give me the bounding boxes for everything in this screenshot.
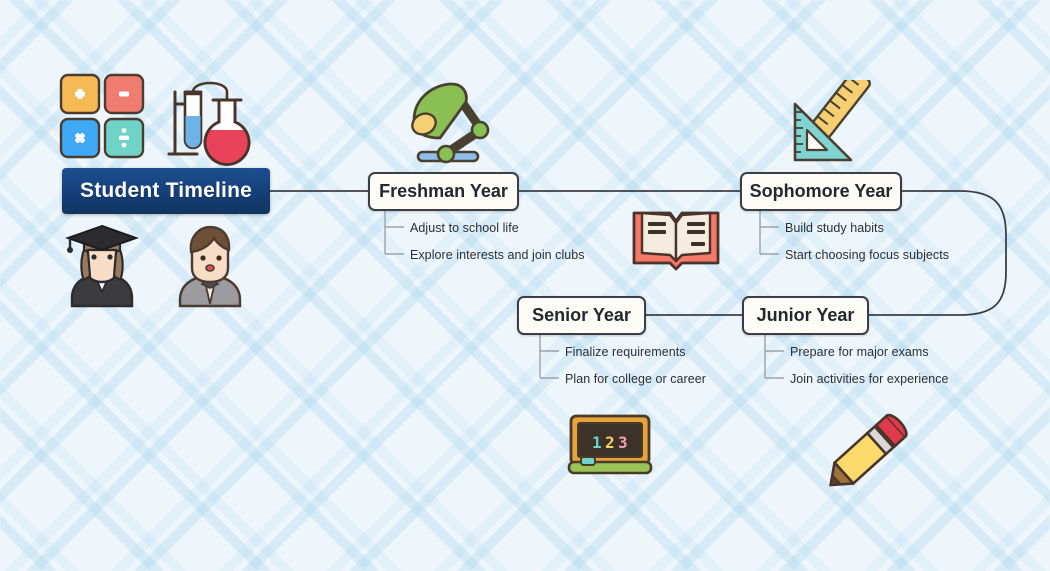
math-operators-icon — [58, 72, 146, 160]
root-node-student-timeline[interactable]: Student Timeline — [62, 168, 270, 214]
leaf-sophomore-1[interactable]: Build study habits — [785, 221, 884, 235]
leaf-sophomore-2[interactable]: Start choosing focus subjects — [785, 248, 949, 262]
branch-node-label: Senior Year — [532, 305, 631, 326]
leaf-senior-2[interactable]: Plan for college or career — [565, 372, 706, 386]
mindmap-canvas: 1 2 3 Student Timeline Freshman Year Adj… — [0, 0, 1050, 571]
blackboard-number-1: 1 — [592, 433, 602, 452]
desk-lamp-icon — [400, 80, 498, 166]
graduate-female-avatar-icon — [62, 224, 142, 308]
blackboard-numbers-icon: 1 2 3 — [566, 412, 654, 478]
branch-node-senior-year[interactable]: Senior Year — [517, 296, 646, 335]
branch-node-label: Freshman Year — [379, 181, 508, 202]
student-male-avatar-icon — [172, 224, 248, 308]
branch-node-sophomore-year[interactable]: Sophomore Year — [740, 172, 902, 211]
leaf-freshman-1[interactable]: Adjust to school life — [410, 221, 519, 235]
branch-node-label: Junior Year — [757, 305, 855, 326]
leaf-junior-2[interactable]: Join activities for experience — [790, 372, 949, 386]
branch-node-junior-year[interactable]: Junior Year — [742, 296, 869, 335]
chemistry-set-icon — [163, 78, 261, 170]
root-node-label: Student Timeline — [80, 179, 252, 203]
branch-node-freshman-year[interactable]: Freshman Year — [368, 172, 519, 211]
leaf-junior-1[interactable]: Prepare for major exams — [790, 345, 929, 359]
ruler-triangle-icon — [785, 80, 885, 166]
leaf-freshman-2[interactable]: Explore interests and join clubs — [410, 248, 585, 262]
leaf-senior-1[interactable]: Finalize requirements — [565, 345, 686, 359]
blackboard-number-3: 3 — [618, 433, 628, 452]
open-book-icon — [630, 209, 722, 275]
branch-node-label: Sophomore Year — [750, 181, 893, 202]
blackboard-number-2: 2 — [605, 433, 615, 452]
pencil-icon — [818, 410, 910, 500]
